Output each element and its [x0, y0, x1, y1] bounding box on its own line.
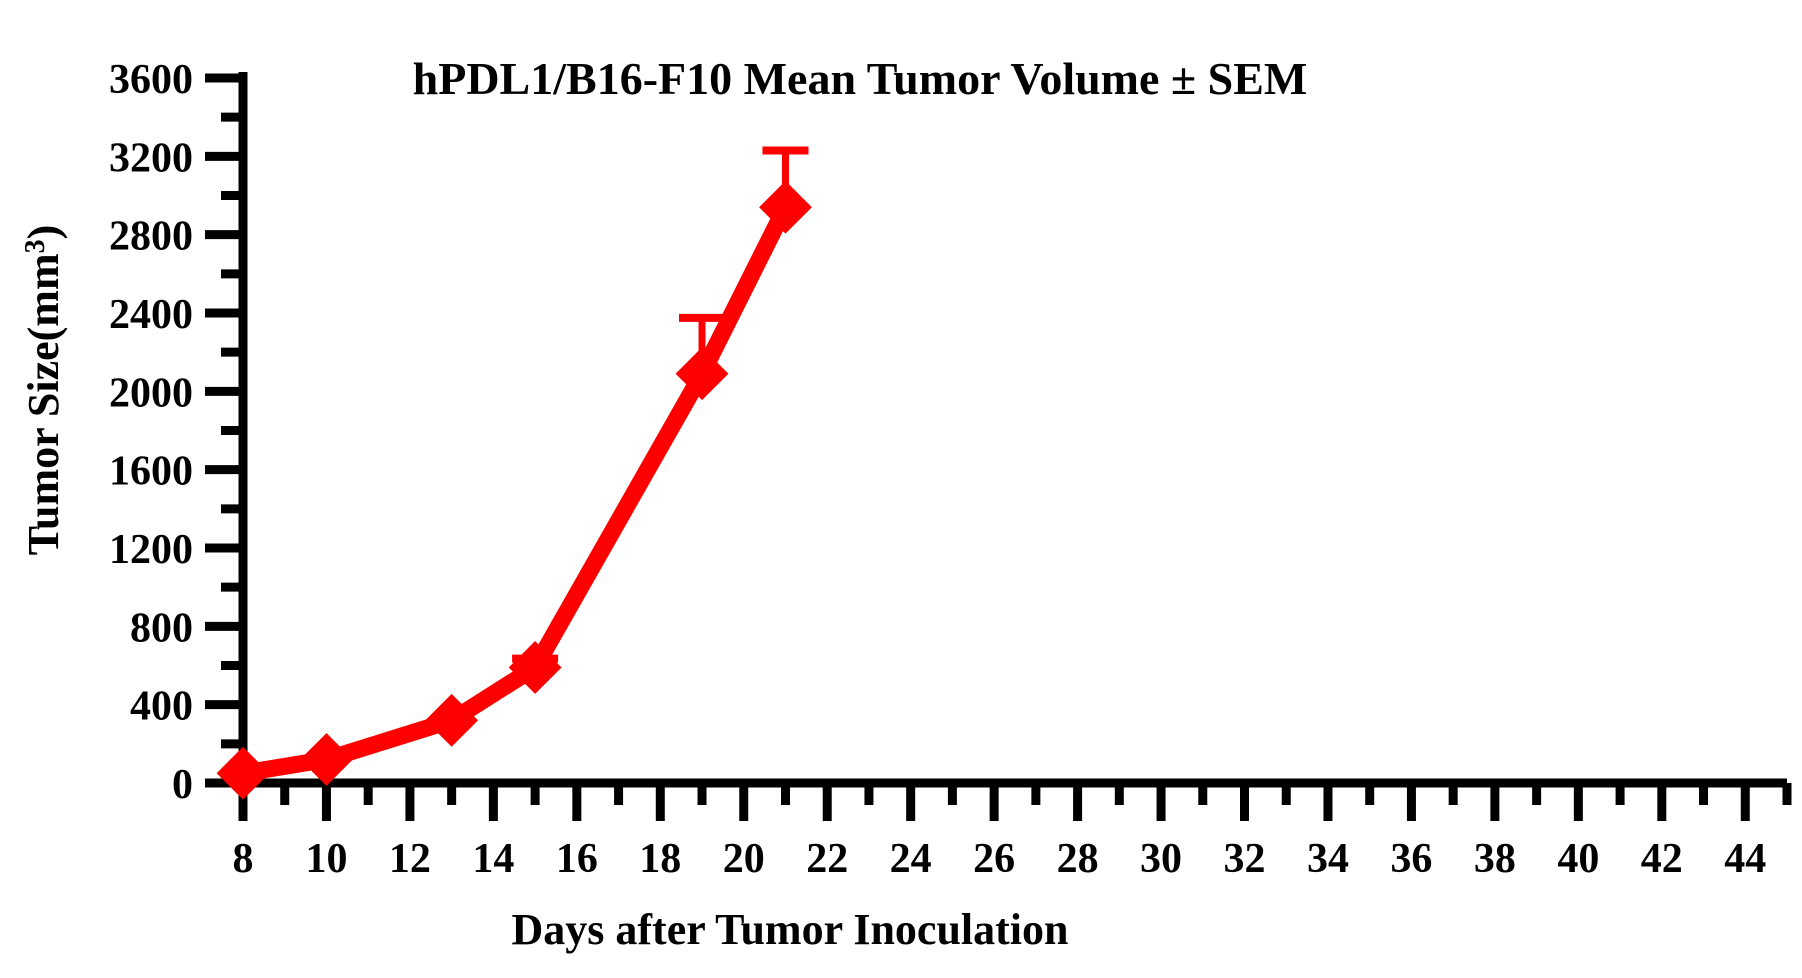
x-tick-label: 26 — [973, 836, 1015, 882]
y-tick-label: 3200 — [109, 135, 193, 181]
tumor-volume-line-chart: hPDL1/B16-F10 Mean Tumor Volume ± SEM Tu… — [0, 0, 1802, 978]
x-tick-label: 34 — [1307, 836, 1349, 882]
y-tick-label: 800 — [130, 605, 193, 651]
x-tick-label: 30 — [1140, 836, 1182, 882]
x-axis-title-text: Days after Tumor Inoculation — [511, 905, 1068, 954]
x-tick-label: 10 — [305, 836, 347, 882]
x-tick-label: 8 — [233, 836, 254, 882]
x-tick-label: 28 — [1057, 836, 1099, 882]
y-axis-title-text: Tumor Size(mm3) — [19, 225, 68, 556]
x-tick-label: 44 — [1724, 836, 1766, 882]
x-tick-label: 38 — [1474, 836, 1516, 882]
x-tick-label: 24 — [890, 836, 932, 882]
x-tick-label: 42 — [1641, 836, 1683, 882]
chart-figure: hPDL1/B16-F10 Mean Tumor Volume ± SEM Tu… — [0, 0, 1802, 978]
y-tick-label: 2800 — [109, 214, 193, 260]
x-tick-label: 36 — [1390, 836, 1432, 882]
y-tick-label: 0 — [172, 762, 193, 808]
y-axis-title-suffix: ) — [19, 225, 68, 240]
y-tick-label: 3600 — [109, 57, 193, 103]
x-tick-label: 12 — [389, 836, 431, 882]
chart-background — [0, 0, 1802, 978]
chart-title-text: hPDL1/B16-F10 Mean Tumor Volume ± SEM — [413, 53, 1308, 104]
y-axis-title-main: Tumor Size(mm — [19, 253, 68, 555]
x-axis-title: Days after Tumor Inoculation — [511, 905, 1068, 954]
x-tick-label: 18 — [639, 836, 681, 882]
y-tick-label: 1600 — [109, 449, 193, 495]
y-axis-title: Tumor Size(mm3) — [19, 225, 68, 556]
x-tick-label: 14 — [472, 836, 514, 882]
x-tick-label: 16 — [556, 836, 598, 882]
y-axis-title-superscript: 3 — [20, 239, 51, 253]
x-tick-label: 20 — [723, 836, 765, 882]
x-tick-label: 22 — [806, 836, 848, 882]
y-tick-label: 2400 — [109, 292, 193, 338]
y-tick-label: 400 — [130, 684, 193, 730]
x-tick-label: 40 — [1557, 836, 1599, 882]
chart-title: hPDL1/B16-F10 Mean Tumor Volume ± SEM — [413, 53, 1308, 104]
y-tick-label: 1200 — [109, 527, 193, 573]
y-tick-label: 2000 — [109, 370, 193, 416]
x-tick-label: 32 — [1224, 836, 1266, 882]
